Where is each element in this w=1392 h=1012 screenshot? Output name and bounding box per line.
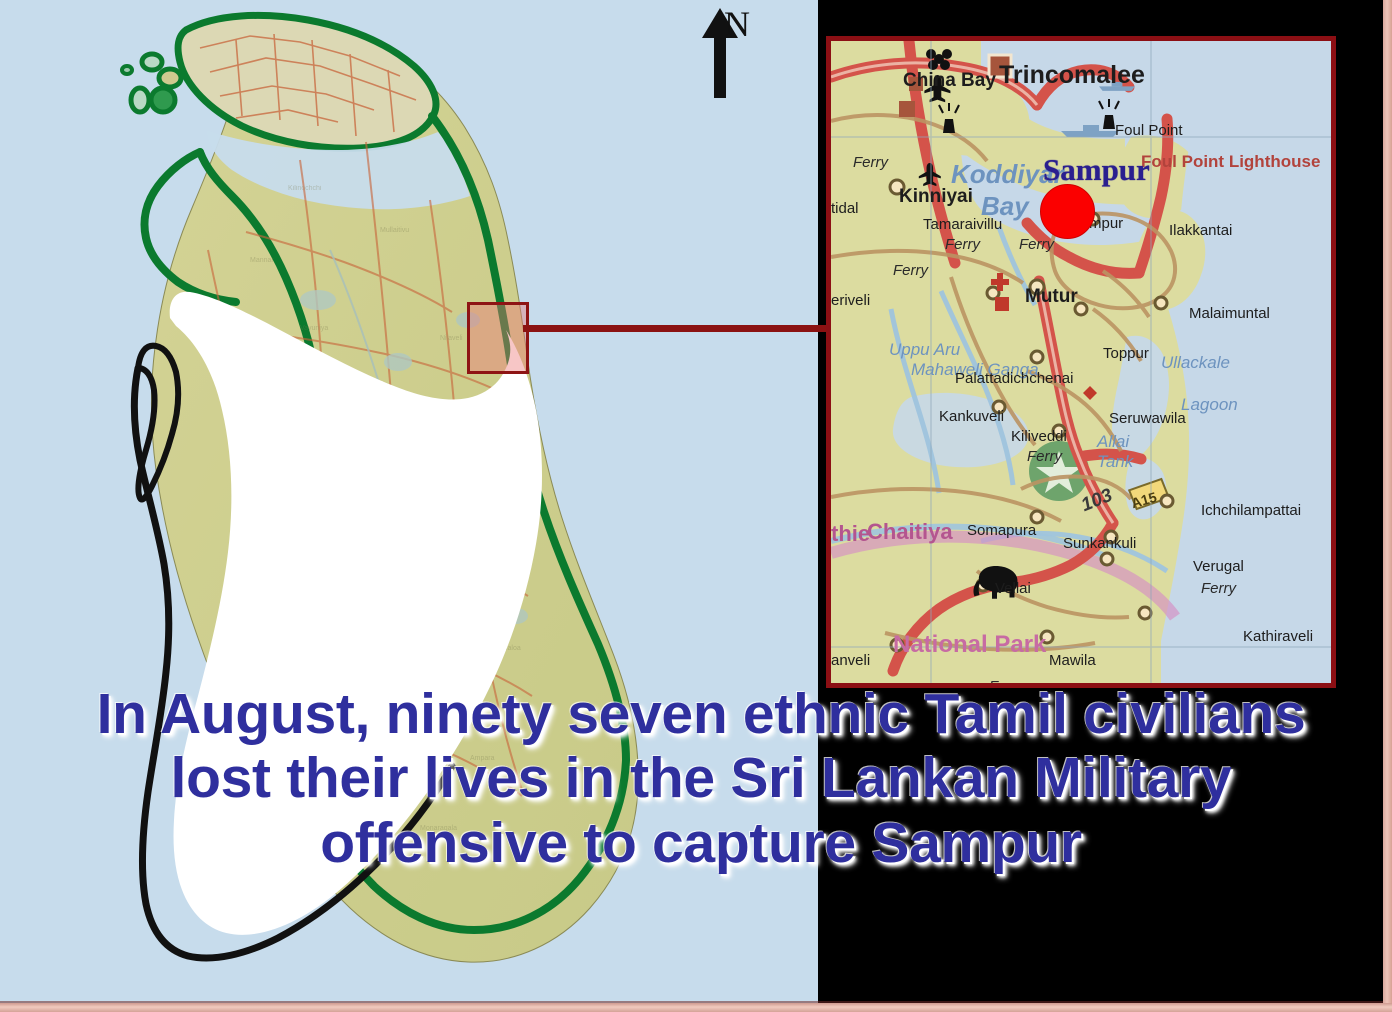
map-label: China Bay (903, 71, 996, 90)
svg-text:Mullaitivu: Mullaitivu (380, 227, 409, 234)
map-label: thie (831, 523, 870, 545)
map-label: anveli (831, 653, 870, 668)
map-label: Chaitiya (867, 521, 953, 543)
inset-map-canvas (831, 41, 1331, 683)
map-label: Kinniyai (899, 187, 973, 206)
svg-text:Nilaveli: Nilaveli (440, 335, 463, 342)
map-label: Foul Point Lighthouse (1141, 153, 1320, 170)
trincomalee-sampur-inset[interactable]: TrincomaleeChina BayFoul PointFoul Point… (826, 36, 1336, 688)
map-label: Trincomalee (999, 63, 1145, 88)
map-label: Ferry (945, 237, 980, 252)
map-label: Verugal (1193, 559, 1244, 574)
slide-caption: In August, ninety seven ethnic Tamil civ… (96, 682, 1306, 875)
map-label: Palattadichchenai (955, 371, 1073, 386)
svg-text:Mannar: Mannar (250, 257, 274, 264)
map-label: Lagoon (1181, 396, 1238, 413)
map-label: Vellai (995, 581, 1031, 596)
map-label: Ferry (1019, 237, 1054, 252)
frame-bottom-strip (0, 1003, 1392, 1012)
slide-root: Kilinochchi Mannar Mullaitivu Vavuniya N… (0, 0, 1392, 1012)
frame-right-strip (1383, 0, 1392, 1012)
map-label: Uppu Aru (889, 341, 960, 358)
map-label: Ichchilampattai (1201, 503, 1301, 518)
map-label: tidal (831, 201, 859, 216)
svg-text:Vavuniya: Vavuniya (300, 325, 328, 332)
svg-text:Kilinochchi: Kilinochchi (288, 185, 322, 192)
sampur-location-marker[interactable] (1040, 184, 1095, 239)
map-label: Malaimuntal (1189, 306, 1270, 321)
map-label: Seruwawila (1109, 411, 1186, 426)
sampur-callout-box[interactable] (467, 302, 529, 374)
map-label: Tank (1097, 453, 1133, 470)
north-arrow-label: N (724, 6, 750, 42)
map-label: Ullackale (1161, 354, 1230, 371)
map-label: Somapura (967, 523, 1036, 538)
map-label: eriveli (831, 293, 870, 308)
map-label: National Park (893, 633, 1046, 657)
map-label: Mutur (1025, 287, 1078, 306)
map-label: Kathiraveli (1243, 629, 1313, 644)
map-label: Tamaraivillu (923, 217, 1002, 232)
map-label: Ferry (893, 263, 928, 278)
map-label: Ferry (1027, 449, 1062, 464)
jaffna-peninsula (122, 15, 436, 148)
map-label: Sunkankuli (1063, 536, 1136, 551)
map-label: Kiliveddi (1011, 429, 1067, 444)
sampur-label: Sampur (1043, 152, 1150, 188)
map-label: Toppur (1103, 346, 1149, 361)
callout-connector-line (523, 325, 843, 332)
map-label: Foul Point (1115, 123, 1183, 138)
map-label: Ilakkantai (1169, 223, 1232, 238)
map-label: Ferry (853, 155, 888, 170)
map-label: Ferry (1201, 581, 1236, 596)
map-label: Kankuveli (939, 409, 1004, 424)
map-label: Allai (1097, 433, 1129, 450)
map-label: Mawila (1049, 653, 1096, 668)
